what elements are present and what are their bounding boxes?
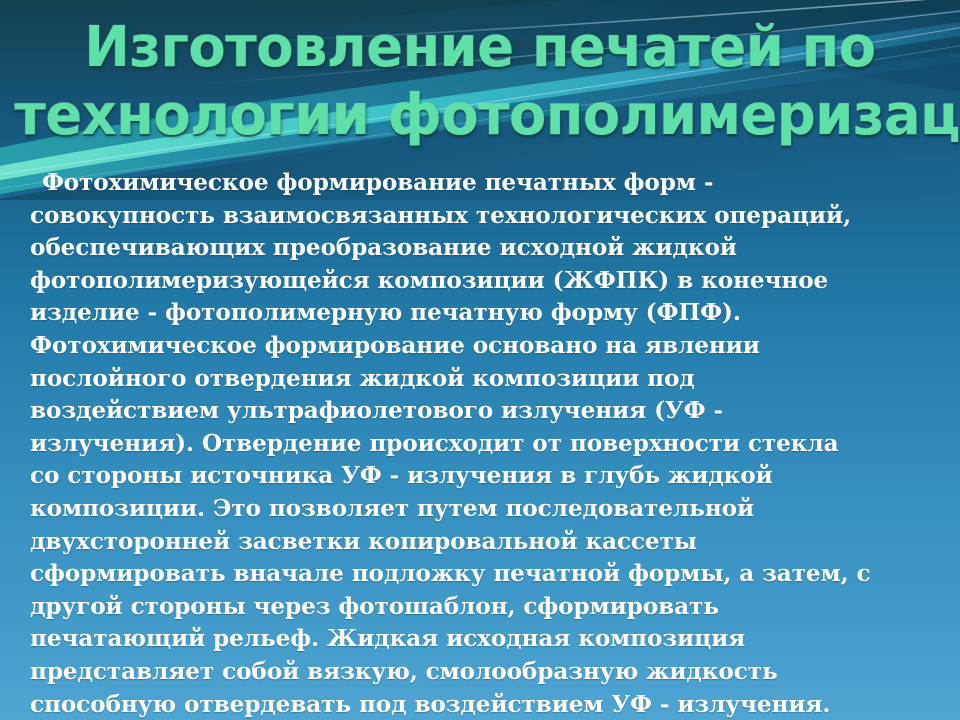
body-line: Фотохимическое формирование печатных фор… bbox=[30, 166, 917, 199]
slide-title: Изготовление печатей по технологии фотоп… bbox=[0, 14, 960, 150]
body-line: Фотохимическое формирование основано на … bbox=[30, 329, 917, 362]
body-line: излучения). Отвердение происходит от пов… bbox=[30, 427, 917, 460]
body-line: другой стороны через фотошаблон, сформир… bbox=[30, 590, 917, 623]
body-line: обеспечивающих преобразование исходной ж… bbox=[30, 231, 917, 264]
body-line: фотополимеризующейся композиции (ЖФПК) в… bbox=[30, 264, 917, 297]
body-line: воздействием ультрафиолетового излучения… bbox=[30, 394, 917, 427]
body-line: печатающий рельеф. Жидкая исходная компо… bbox=[30, 622, 917, 655]
body-line: со стороны источника УФ - излучения в гл… bbox=[30, 459, 917, 492]
body-line: совокупность взаимосвязанных технологиче… bbox=[30, 199, 917, 232]
presentation-slide: Изготовление печатей по технологии фотоп… bbox=[0, 0, 960, 720]
title-line-1: Изготовление печатей по bbox=[14, 14, 945, 82]
body-line: способную отвердевать под воздействием У… bbox=[30, 688, 917, 720]
title-line-2: технологии фотополимеризации bbox=[14, 82, 945, 150]
slide-body-text: Фотохимическое формирование печатных фор… bbox=[30, 166, 930, 720]
body-line: послойного отвердения жидкой композиции … bbox=[30, 362, 917, 395]
body-line: изделие - фотополимерную печатную форму … bbox=[30, 296, 917, 329]
body-line: композиции. Это позволяет путем последов… bbox=[30, 492, 917, 525]
body-line: представляет собой вязкую, смолообразную… bbox=[30, 655, 917, 688]
body-line: двухсторонней засветки копировальной кас… bbox=[30, 525, 917, 558]
body-line: сформировать вначале подложку печатной ф… bbox=[30, 557, 917, 590]
